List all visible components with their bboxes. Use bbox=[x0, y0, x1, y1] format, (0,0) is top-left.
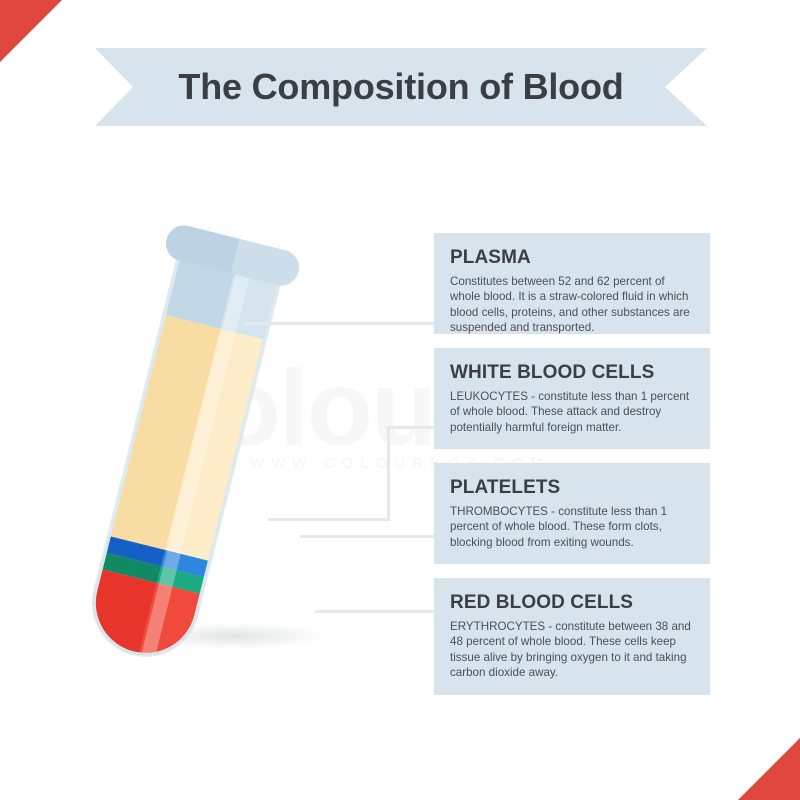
panel-wbc-title: WHITE BLOOD CELLS bbox=[450, 362, 694, 384]
connector-line-wbc-segment-3 bbox=[387, 426, 438, 429]
panel-plasma[interactable]: PLASMA Constitutes between 52 and 62 per… bbox=[434, 233, 710, 334]
title-banner: The Composition of Blood bbox=[95, 48, 707, 126]
panel-wbc-body: LEUKOCYTES - constitute less than 1 perc… bbox=[450, 389, 694, 435]
panel-platelets-body: THROMBOCYTES - constitute less than 1 pe… bbox=[450, 504, 694, 550]
panel-platelets[interactable]: PLATELETS THROMBOCYTES - constitute less… bbox=[434, 463, 710, 564]
panel-white-blood-cells[interactable]: WHITE BLOOD CELLS LEUKOCYTES - constitut… bbox=[434, 348, 710, 449]
connector-line-platelets bbox=[300, 535, 438, 538]
panel-plasma-title: PLASMA bbox=[450, 247, 694, 269]
corner-triangle-top-left bbox=[0, 0, 62, 62]
panel-plasma-body: Constitutes between 52 and 62 percent of… bbox=[450, 274, 694, 336]
corner-triangle-bottom-right bbox=[738, 738, 800, 800]
connector-line-wbc-segment-1 bbox=[268, 518, 390, 521]
panel-rbc-title: RED BLOOD CELLS bbox=[450, 592, 694, 614]
connector-line-plasma bbox=[243, 322, 438, 325]
panel-rbc-body: ERYTHROCYTES - constitute between 38 and… bbox=[450, 619, 694, 681]
infographic-page: The Composition of Blood Colourbox WWW.C… bbox=[0, 0, 800, 800]
panel-platelets-title: PLATELETS bbox=[450, 477, 694, 499]
layer-plasma bbox=[109, 315, 265, 561]
tube-rotation-group bbox=[82, 227, 287, 669]
connector-line-rbc bbox=[315, 610, 438, 613]
page-title: The Composition of Blood bbox=[95, 48, 707, 126]
connector-line-wbc-segment-2 bbox=[387, 426, 390, 521]
panel-red-blood-cells[interactable]: RED BLOOD CELLS ERYTHROCYTES - constitut… bbox=[434, 578, 710, 695]
blood-test-tube-illustration bbox=[118, 225, 368, 700]
tube-body bbox=[83, 255, 280, 666]
